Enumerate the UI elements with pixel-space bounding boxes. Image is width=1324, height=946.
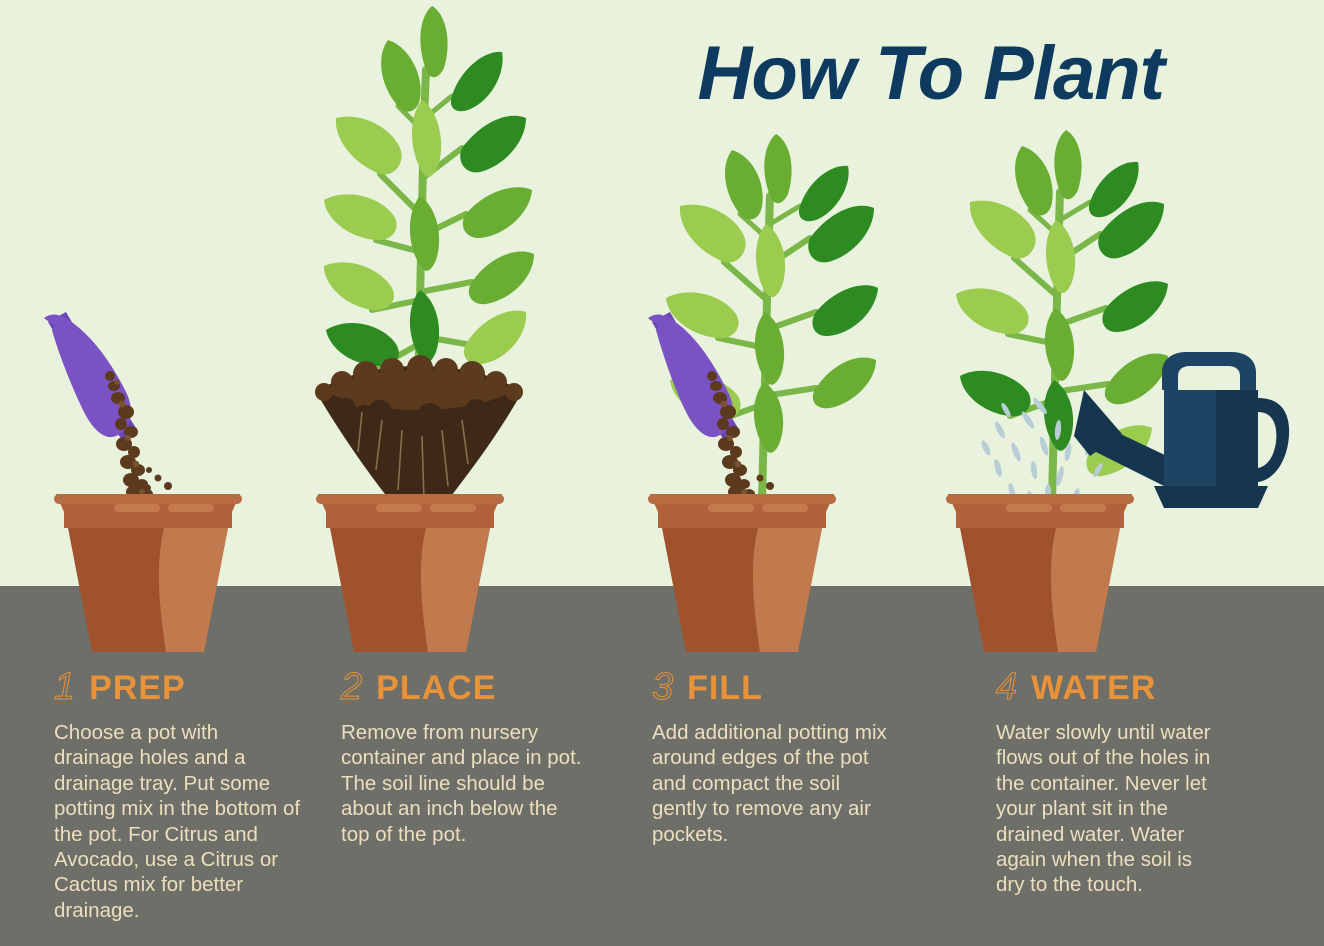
step-number-2: 2 <box>341 668 362 706</box>
infographic-canvas: How To Plant <box>0 0 1324 946</box>
plant-leaves <box>956 130 1168 476</box>
step-heading-2: 2 PLACE <box>341 668 589 706</box>
scene-step-2 <box>280 0 610 660</box>
step-name-3: FILL <box>687 671 763 705</box>
plant-leaves <box>324 6 534 366</box>
flower-pot <box>648 494 836 652</box>
step-heading-4: 4 WATER <box>996 668 1226 706</box>
step-name-1: PREP <box>89 671 186 705</box>
step-body-1: Choose a pot with drainage holes and a d… <box>54 720 302 923</box>
flower-pot <box>54 494 242 652</box>
step-body-4: Water slowly until water flows out of th… <box>996 720 1226 898</box>
step-body-2: Remove from nursery container and place … <box>341 720 589 847</box>
scene-step-4 <box>940 0 1324 660</box>
step-heading-3: 3 FILL <box>652 668 900 706</box>
scene-step-3 <box>612 0 942 660</box>
step-column-2: 2 PLACE Remove from nursery container an… <box>341 668 589 847</box>
step-number-4: 4 <box>996 668 1017 706</box>
step-name-4: WATER <box>1031 671 1156 705</box>
step-column-4: 4 WATER Water slowly until water flows o… <box>996 668 1226 898</box>
step-number-1: 1 <box>54 668 75 706</box>
flower-pot <box>316 494 504 652</box>
step-column-3: 3 FILL Add additional potting mix around… <box>652 668 900 847</box>
step-name-2: PLACE <box>376 671 496 705</box>
step-column-1: 1 PREP Choose a pot with drainage holes … <box>54 668 302 923</box>
step-number-3: 3 <box>652 668 673 706</box>
flower-pot <box>946 494 1134 652</box>
step-heading-1: 1 PREP <box>54 668 302 706</box>
step-body-3: Add additional potting mix around edges … <box>652 720 900 847</box>
watering-can-icon <box>1074 352 1289 508</box>
